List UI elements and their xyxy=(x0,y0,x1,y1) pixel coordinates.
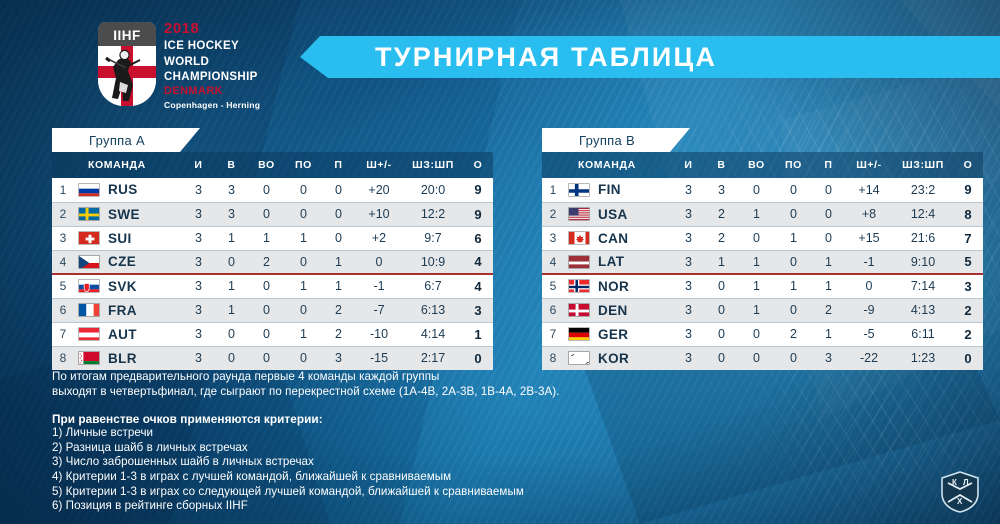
table-row[interactable]: 8KOR30003-221:230 xyxy=(542,346,983,370)
team-code: CAN xyxy=(598,231,628,246)
row-rank: 5 xyxy=(542,274,564,298)
row-ot-losses: 0 xyxy=(285,250,322,274)
svg-text:К: К xyxy=(952,478,957,487)
row-goals: 6:13 xyxy=(403,298,463,322)
row-losses: 0 xyxy=(322,178,355,202)
title-banner: ТУРНИРНАЯ ТАБЛИЦА xyxy=(300,36,1000,78)
row-ot-wins: 1 xyxy=(738,298,775,322)
row-losses: 0 xyxy=(322,202,355,226)
group-b-body: 1FIN33000+1423:292USA32100+812:483CAN320… xyxy=(542,178,983,370)
criteria-title: При равенстве очков применяются критерии… xyxy=(52,412,812,426)
row-team[interactable]: CZE xyxy=(74,250,182,274)
row-games-played: 3 xyxy=(672,178,705,202)
flag-rus-icon xyxy=(78,183,100,197)
row-ot-losses: 0 xyxy=(775,298,812,322)
group-a-tab: Группа A xyxy=(52,128,200,152)
table-header-row: КОМАНДА И В ВО ПО П Ш+/- ШЗ:ШП О xyxy=(542,152,983,178)
team-code: SWE xyxy=(108,207,140,222)
row-team[interactable]: RUS xyxy=(74,178,182,202)
group-a-table: КОМАНДА И В ВО ПО П Ш+/- ШЗ:ШП О 1RUS330… xyxy=(52,152,493,370)
criteria-item: 1) Личные встречи xyxy=(52,426,812,441)
row-wins: 3 xyxy=(215,178,248,202)
group-a-body: 1RUS33000+2020:092SWE33000+1012:293SUI31… xyxy=(52,178,493,370)
row-goal-diff: +10 xyxy=(355,202,403,226)
row-losses: 0 xyxy=(812,226,845,250)
row-games-played: 3 xyxy=(182,298,215,322)
row-team[interactable]: USA xyxy=(564,202,672,226)
row-points: 9 xyxy=(463,178,493,202)
row-games-played: 3 xyxy=(672,346,705,370)
row-ot-losses: 0 xyxy=(775,178,812,202)
table-row[interactable]: 5SVK31011-16:74 xyxy=(52,274,493,298)
row-points: 7 xyxy=(953,226,983,250)
team-code: KOR xyxy=(598,351,629,366)
row-wins: 0 xyxy=(705,322,738,346)
svg-text:Х: Х xyxy=(957,497,963,506)
flag-blr-icon xyxy=(78,351,100,365)
team-code: DEN xyxy=(598,303,628,318)
team-code: USA xyxy=(598,207,628,222)
row-team[interactable]: AUT xyxy=(74,322,182,346)
flag-fra-icon xyxy=(78,303,100,317)
row-goals: 12:4 xyxy=(893,202,953,226)
row-ot-losses: 1 xyxy=(285,226,322,250)
row-rank: 8 xyxy=(542,346,564,370)
row-games-played: 3 xyxy=(672,322,705,346)
table-row[interactable]: 3SUI31110+29:76 xyxy=(52,226,493,250)
team-code: LAT xyxy=(598,254,624,269)
col-otw: ВО xyxy=(248,152,285,178)
row-team[interactable]: BLR xyxy=(74,346,182,370)
row-wins: 0 xyxy=(215,322,248,346)
col-diff: Ш+/- xyxy=(845,152,893,178)
col-l: П xyxy=(322,152,355,178)
row-losses: 1 xyxy=(322,274,355,298)
row-losses: 1 xyxy=(812,322,845,346)
row-ot-losses: 0 xyxy=(285,178,322,202)
page-header: IIHF 2018 ICE HOCKEY WORLD CHAMPIO xyxy=(0,0,1000,122)
row-points: 3 xyxy=(463,298,493,322)
row-goal-diff: -1 xyxy=(355,274,403,298)
team-code: GER xyxy=(598,327,628,342)
row-team[interactable]: LAT xyxy=(564,250,672,274)
row-rank: 4 xyxy=(542,250,564,274)
flag-kor-icon xyxy=(568,351,590,365)
row-ot-wins: 0 xyxy=(248,274,285,298)
table-row[interactable]: 7GER30021-56:112 xyxy=(542,322,983,346)
row-goal-diff: -22 xyxy=(845,346,893,370)
table-header-row: КОМАНДА И В ВО ПО П Ш+/- ШЗ:ШП О xyxy=(52,152,493,178)
group-a-block: Группа A КОМАНДА И В ВО ПО П Ш+/- ШЗ:ШП … xyxy=(52,128,462,370)
group-b-table: КОМАНДА И В ВО ПО П Ш+/- ШЗ:ШП О 1FIN330… xyxy=(542,152,983,370)
row-ot-wins: 1 xyxy=(248,226,285,250)
flag-swe-icon xyxy=(78,207,100,221)
row-wins: 0 xyxy=(705,346,738,370)
col-team: КОМАНДА xyxy=(564,152,672,178)
row-points: 1 xyxy=(463,322,493,346)
row-wins: 2 xyxy=(705,226,738,250)
row-wins: 0 xyxy=(705,274,738,298)
row-ot-wins: 0 xyxy=(738,178,775,202)
row-team[interactable]: CAN xyxy=(564,226,672,250)
row-games-played: 3 xyxy=(672,202,705,226)
iihf-badge-top: IIHF xyxy=(98,22,156,48)
group-b-tab: Группа B xyxy=(542,128,690,152)
row-wins: 0 xyxy=(215,346,248,370)
flag-can-icon xyxy=(568,231,590,245)
row-points: 9 xyxy=(953,178,983,202)
table-row[interactable]: 6FRA31002-76:133 xyxy=(52,298,493,322)
row-ot-wins: 0 xyxy=(248,298,285,322)
flag-usa-icon xyxy=(568,207,590,221)
iihf-badge-label: IIHF xyxy=(113,28,141,43)
row-points: 0 xyxy=(953,346,983,370)
group-b-block: Группа B КОМАНДА И В ВО ПО П Ш+/- ШЗ:ШП … xyxy=(542,128,952,370)
row-rank: 3 xyxy=(542,226,564,250)
flag-nor-icon xyxy=(568,279,590,293)
row-games-played: 3 xyxy=(182,202,215,226)
row-losses: 1 xyxy=(812,250,845,274)
row-rank: 4 xyxy=(52,250,74,274)
flag-cze-icon xyxy=(78,255,100,269)
row-ot-wins: 0 xyxy=(738,226,775,250)
row-games-played: 3 xyxy=(672,226,705,250)
group-a-label: Группа A xyxy=(89,133,145,148)
flag-den-icon xyxy=(568,303,590,317)
row-ot-wins: 0 xyxy=(248,322,285,346)
row-ot-losses: 0 xyxy=(285,346,322,370)
row-team[interactable]: FIN xyxy=(564,178,672,202)
row-goals: 4:14 xyxy=(403,322,463,346)
col-diff: Ш+/- xyxy=(355,152,403,178)
row-team[interactable]: GER xyxy=(564,322,672,346)
row-games-played: 3 xyxy=(182,346,215,370)
table-row[interactable]: 4CZE30201010:94 xyxy=(52,250,493,274)
row-goals: 7:14 xyxy=(893,274,953,298)
row-goals: 23:2 xyxy=(893,178,953,202)
row-ot-wins: 0 xyxy=(248,346,285,370)
row-games-played: 3 xyxy=(182,322,215,346)
table-row[interactable]: 7AUT30012-104:141 xyxy=(52,322,493,346)
col-l: П xyxy=(812,152,845,178)
row-goal-diff: -1 xyxy=(845,250,893,274)
row-points: 8 xyxy=(953,202,983,226)
row-rank: 1 xyxy=(542,178,564,202)
table-row[interactable]: 1RUS33000+2020:09 xyxy=(52,178,493,202)
col-points: О xyxy=(463,152,493,178)
team-code: AUT xyxy=(108,327,137,342)
row-ot-wins: 2 xyxy=(248,250,285,274)
logo-cities: Copenhagen - Herning xyxy=(164,100,324,110)
team-code: CZE xyxy=(108,254,136,269)
footer-notes: По итогам предварительного раунда первые… xyxy=(52,370,812,514)
row-wins: 1 xyxy=(215,298,248,322)
row-games-played: 3 xyxy=(672,250,705,274)
row-goal-diff: -10 xyxy=(355,322,403,346)
row-goal-diff: +8 xyxy=(845,202,893,226)
team-code: RUS xyxy=(108,182,138,197)
row-points: 4 xyxy=(463,274,493,298)
row-goals: 21:6 xyxy=(893,226,953,250)
footer-intro-line2: выходят в четвертьфинал, где сыграют по … xyxy=(52,385,812,400)
row-rank: 1 xyxy=(52,178,74,202)
flag-fin-icon xyxy=(568,183,590,197)
team-code: SVK xyxy=(108,279,137,294)
table-row[interactable]: 2USA32100+812:48 xyxy=(542,202,983,226)
row-goal-diff: +15 xyxy=(845,226,893,250)
col-otw: ВО xyxy=(738,152,775,178)
iihf-badge-icon: IIHF xyxy=(98,22,156,106)
row-team[interactable]: NOR xyxy=(564,274,672,298)
row-goals: 1:23 xyxy=(893,346,953,370)
row-games-played: 3 xyxy=(672,274,705,298)
table-row[interactable]: 4LAT31101-19:105 xyxy=(542,250,983,274)
row-goals: 6:11 xyxy=(893,322,953,346)
row-wins: 2 xyxy=(705,202,738,226)
row-rank: 6 xyxy=(52,298,74,322)
flag-sui-icon xyxy=(78,231,100,245)
row-ot-wins: 0 xyxy=(738,322,775,346)
row-games-played: 3 xyxy=(672,298,705,322)
team-code: FRA xyxy=(108,303,137,318)
row-ot-wins: 0 xyxy=(248,202,285,226)
row-points: 6 xyxy=(463,226,493,250)
row-rank: 5 xyxy=(52,274,74,298)
row-losses: 1 xyxy=(322,250,355,274)
table-row[interactable]: 1FIN33000+1423:29 xyxy=(542,178,983,202)
row-goal-diff: 0 xyxy=(845,274,893,298)
col-otl: ПО xyxy=(285,152,322,178)
row-rank: 7 xyxy=(542,322,564,346)
row-goal-diff: 0 xyxy=(355,250,403,274)
col-team: КОМАНДА xyxy=(74,152,182,178)
page-title: ТУРНИРНАЯ ТАБЛИЦА xyxy=(375,36,717,78)
row-ot-wins: 1 xyxy=(738,250,775,274)
svg-text:Л: Л xyxy=(963,478,969,487)
row-goal-diff: +14 xyxy=(845,178,893,202)
team-code: SUI xyxy=(108,231,132,246)
row-goals: 6:7 xyxy=(403,274,463,298)
criteria-list: 1) Личные встречи2) Разница шайб в личны… xyxy=(52,426,812,514)
row-games-played: 3 xyxy=(182,274,215,298)
row-rank: 2 xyxy=(542,202,564,226)
col-goals: ШЗ:ШП xyxy=(403,152,463,178)
row-games-played: 3 xyxy=(182,226,215,250)
row-rank: 7 xyxy=(52,322,74,346)
row-team[interactable]: KOR xyxy=(564,346,672,370)
row-losses: 1 xyxy=(812,274,845,298)
flag-svk-icon xyxy=(78,279,100,293)
row-losses: 3 xyxy=(322,346,355,370)
group-b-label: Группа B xyxy=(579,133,635,148)
col-gp: И xyxy=(182,152,215,178)
row-games-played: 3 xyxy=(182,250,215,274)
row-ot-losses: 0 xyxy=(285,298,322,322)
row-goal-diff: -7 xyxy=(355,298,403,322)
criteria-item: 4) Критерии 1-3 в играх с лучшей командо… xyxy=(52,470,812,485)
criteria-item: 6) Позиция в рейтинге сборных IIHF xyxy=(52,499,812,514)
row-team[interactable]: SWE xyxy=(74,202,182,226)
row-ot-losses: 1 xyxy=(775,274,812,298)
col-otl: ПО xyxy=(775,152,812,178)
col-points: О xyxy=(953,152,983,178)
row-ot-wins: 1 xyxy=(738,274,775,298)
row-points: 4 xyxy=(463,250,493,274)
row-ot-wins: 0 xyxy=(738,346,775,370)
flag-ger-icon xyxy=(568,327,590,341)
flag-lat-icon xyxy=(568,255,590,269)
row-wins: 3 xyxy=(215,202,248,226)
row-points: 0 xyxy=(463,346,493,370)
row-losses: 0 xyxy=(812,202,845,226)
row-points: 5 xyxy=(953,250,983,274)
row-wins: 1 xyxy=(215,226,248,250)
col-rank xyxy=(542,152,564,178)
team-code: NOR xyxy=(598,279,629,294)
row-goal-diff: -5 xyxy=(845,322,893,346)
row-rank: 6 xyxy=(542,298,564,322)
row-goals: 4:13 xyxy=(893,298,953,322)
row-ot-losses: 0 xyxy=(775,346,812,370)
row-goal-diff: -15 xyxy=(355,346,403,370)
criteria-item: 2) Разница шайб в личных встречах xyxy=(52,441,812,456)
row-wins: 0 xyxy=(705,298,738,322)
row-games-played: 3 xyxy=(182,178,215,202)
row-ot-wins: 0 xyxy=(248,178,285,202)
row-team[interactable]: DEN xyxy=(564,298,672,322)
iihf-logo: IIHF 2018 ICE HOCKEY WORLD CHAMPIO xyxy=(98,20,318,110)
table-row[interactable]: 3CAN32010+1521:67 xyxy=(542,226,983,250)
criteria-item: 3) Число заброшенных шайб в личных встре… xyxy=(52,455,812,470)
row-goal-diff: +20 xyxy=(355,178,403,202)
table-row[interactable]: 8BLR30003-152:170 xyxy=(52,346,493,370)
row-ot-losses: 0 xyxy=(775,250,812,274)
row-losses: 2 xyxy=(322,298,355,322)
row-losses: 0 xyxy=(322,226,355,250)
col-goals: ШЗ:ШП xyxy=(893,152,953,178)
col-w: В xyxy=(215,152,248,178)
row-ot-losses: 1 xyxy=(775,226,812,250)
row-team[interactable]: SUI xyxy=(74,226,182,250)
criteria-item: 5) Критерии 1-3 в играх со следующей луч… xyxy=(52,485,812,500)
row-goals: 9:7 xyxy=(403,226,463,250)
row-rank: 8 xyxy=(52,346,74,370)
flag-aut-icon xyxy=(78,327,100,341)
logo-year: 2018 xyxy=(164,20,324,37)
row-points: 9 xyxy=(463,202,493,226)
row-wins: 1 xyxy=(215,274,248,298)
khl-logo-icon: К Л Х xyxy=(938,470,982,514)
row-wins: 0 xyxy=(215,250,248,274)
row-goals: 2:17 xyxy=(403,346,463,370)
row-rank: 3 xyxy=(52,226,74,250)
row-team[interactable]: SVK xyxy=(74,274,182,298)
row-goals: 20:0 xyxy=(403,178,463,202)
logo-country: DENMARK xyxy=(164,85,324,97)
row-goal-diff: +2 xyxy=(355,226,403,250)
row-ot-losses: 1 xyxy=(285,322,322,346)
footer-intro-line1: По итогам предварительного раунда первые… xyxy=(52,370,812,385)
row-ot-losses: 0 xyxy=(775,202,812,226)
row-wins: 1 xyxy=(705,250,738,274)
row-team[interactable]: FRA xyxy=(74,298,182,322)
row-rank: 2 xyxy=(52,202,74,226)
row-losses: 3 xyxy=(812,346,845,370)
row-losses: 0 xyxy=(812,178,845,202)
col-w: В xyxy=(705,152,738,178)
hockey-player-icon xyxy=(98,46,156,106)
team-code: BLR xyxy=(108,351,137,366)
row-goals: 9:10 xyxy=(893,250,953,274)
col-gp: И xyxy=(672,152,705,178)
row-ot-losses: 1 xyxy=(285,274,322,298)
row-losses: 2 xyxy=(812,298,845,322)
table-row[interactable]: 6DEN30102-94:132 xyxy=(542,298,983,322)
row-goal-diff: -9 xyxy=(845,298,893,322)
row-losses: 2 xyxy=(322,322,355,346)
row-ot-losses: 2 xyxy=(775,322,812,346)
col-rank xyxy=(52,152,74,178)
row-goals: 12:2 xyxy=(403,202,463,226)
row-points: 2 xyxy=(953,298,983,322)
table-row[interactable]: 2SWE33000+1012:29 xyxy=(52,202,493,226)
row-goals: 10:9 xyxy=(403,250,463,274)
row-wins: 3 xyxy=(705,178,738,202)
team-code: FIN xyxy=(598,182,621,197)
row-points: 2 xyxy=(953,322,983,346)
row-ot-losses: 0 xyxy=(285,202,322,226)
row-ot-wins: 1 xyxy=(738,202,775,226)
row-points: 3 xyxy=(953,274,983,298)
table-row[interactable]: 5NOR3011107:143 xyxy=(542,274,983,298)
